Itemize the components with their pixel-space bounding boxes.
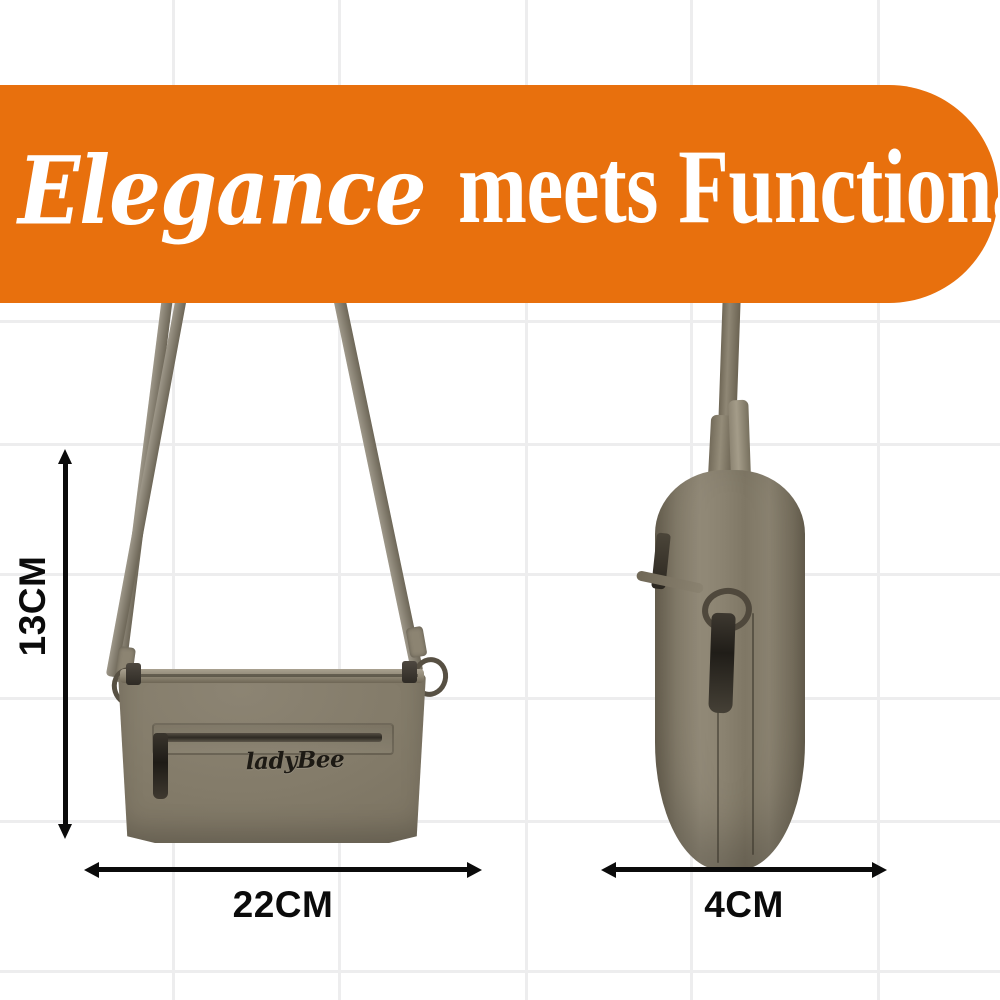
headline-serif-words: meets Functionality bbox=[458, 135, 1000, 241]
product-side-view bbox=[620, 295, 900, 865]
product-front-view: ladyBee bbox=[90, 295, 450, 855]
arrow-head-right-icon bbox=[872, 862, 887, 878]
width-dimension-arrow bbox=[85, 862, 481, 878]
grid-line-horizontal bbox=[0, 970, 1000, 973]
front-pocket-zipper bbox=[160, 733, 382, 742]
width-dimension-label: 22CM bbox=[85, 884, 481, 926]
height-dimension-arrow bbox=[58, 450, 72, 838]
brand-logo: ladyBee bbox=[240, 746, 351, 776]
depth-dimension-arrow bbox=[602, 862, 886, 878]
headline-text: Elegance meets Functionality bbox=[18, 151, 1000, 241]
height-dimension-label: 13CM bbox=[12, 551, 54, 661]
arrow-shaft bbox=[97, 867, 469, 872]
side-seam-right bbox=[752, 613, 754, 855]
arrow-shaft bbox=[614, 867, 874, 872]
arrow-shaft bbox=[63, 460, 68, 828]
arrow-head-down-icon bbox=[58, 824, 72, 839]
arrow-head-right-icon bbox=[467, 862, 482, 878]
side-zipper-pull bbox=[708, 613, 735, 714]
front-pocket-zipper-pull bbox=[153, 733, 168, 799]
depth-dimension-label: 4CM bbox=[602, 884, 886, 926]
top-zipper-pull-left bbox=[126, 663, 141, 685]
headline-banner: Elegance meets Functionality bbox=[0, 85, 998, 303]
product-marketing-image: ladyBee Elegance meets Functionality 13C… bbox=[0, 0, 1000, 1000]
shoulder-strap-left-back bbox=[106, 296, 187, 678]
top-zipper-pull-right bbox=[402, 661, 417, 683]
top-zipper bbox=[120, 669, 424, 683]
headline-script-word: Elegance bbox=[18, 144, 426, 238]
shoulder-strap-right bbox=[333, 296, 423, 674]
